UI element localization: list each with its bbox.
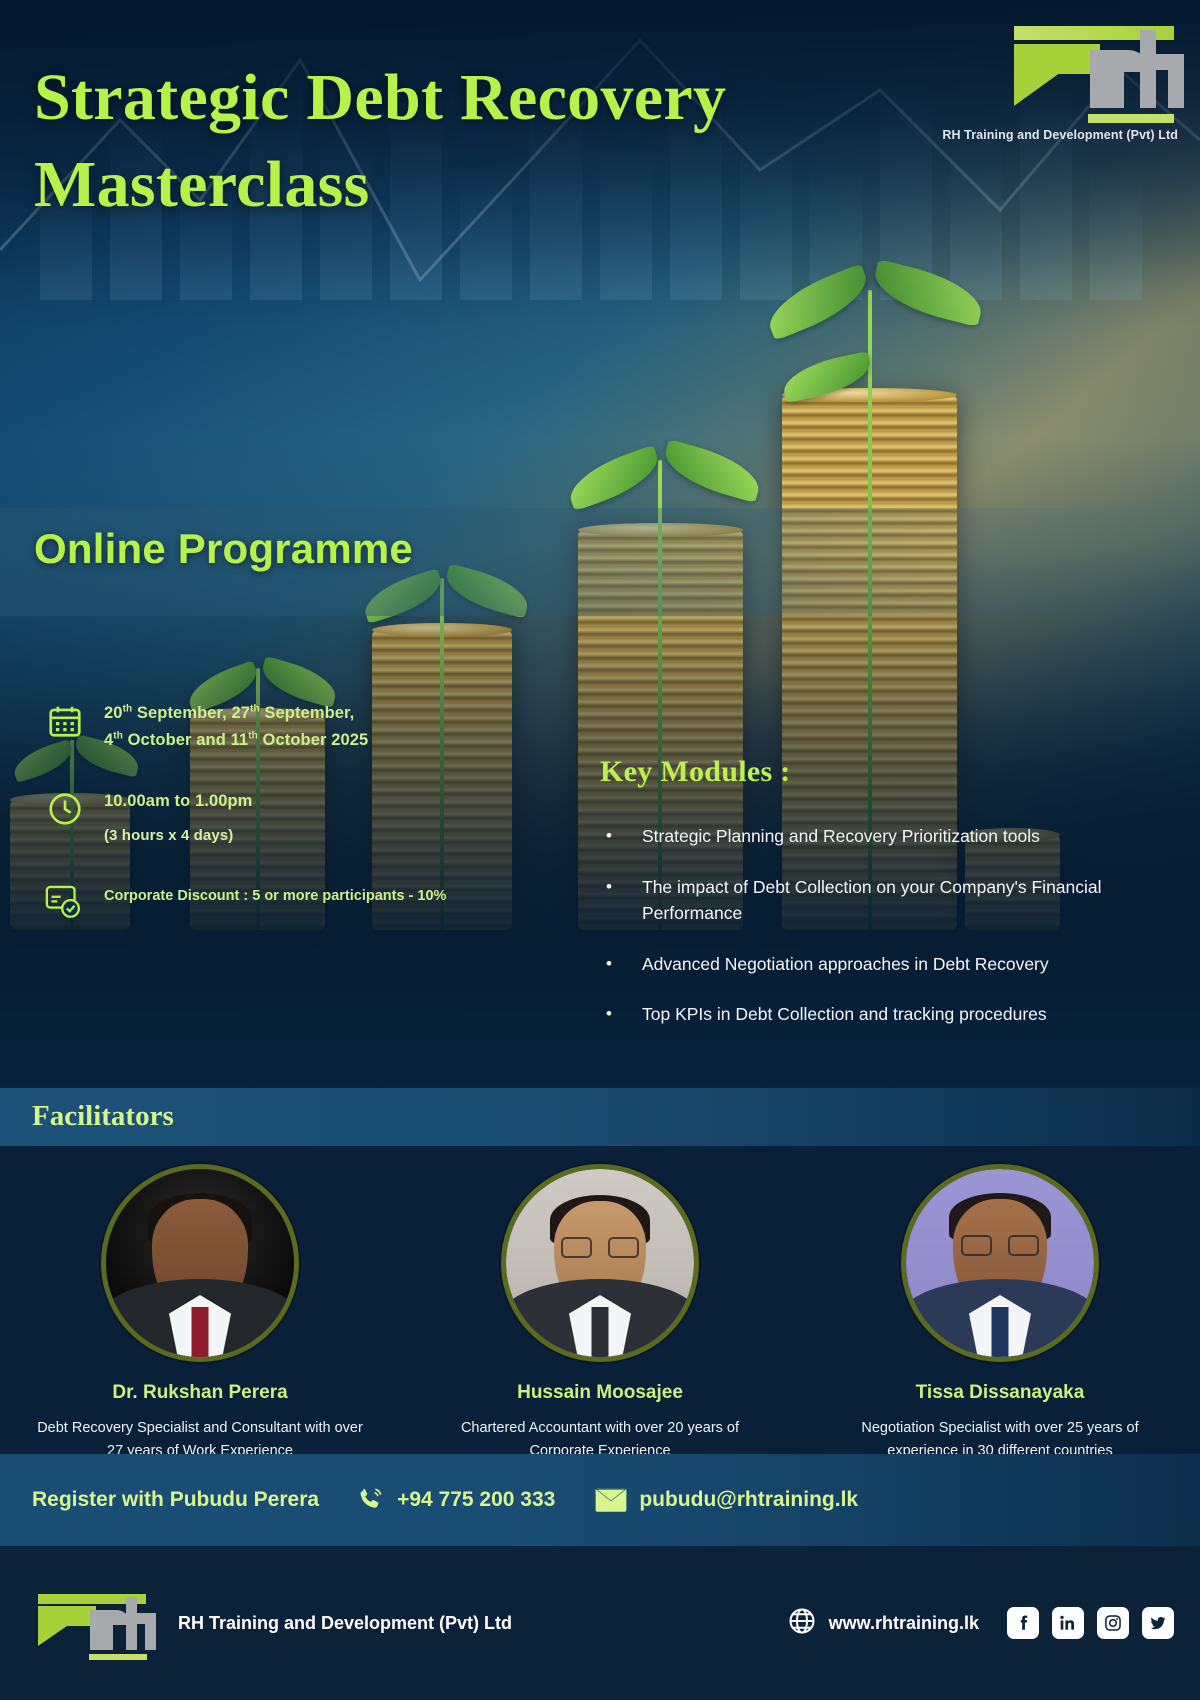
title-line-2: Masterclass: [34, 141, 894, 228]
online-programme-label: Online Programme: [34, 525, 413, 573]
facilitator-portrait: [106, 1169, 294, 1357]
date-2-label: September, 27: [132, 704, 250, 722]
bullet-glyph: •: [606, 874, 612, 900]
facilitators-band: Facilitators: [0, 1088, 1200, 1146]
date-4-label: October and 11: [123, 731, 248, 749]
avatar: [101, 1164, 299, 1362]
phone-icon: [355, 1485, 385, 1515]
phone-number: +94 775 200 333: [397, 1488, 555, 1512]
date-3-day: 4: [104, 731, 113, 749]
facilitator-portrait: [906, 1169, 1094, 1357]
twitter-icon[interactable]: [1142, 1607, 1174, 1639]
facilitator-name: Hussain Moosajee: [400, 1382, 800, 1404]
rh-logo-mark: [992, 22, 1174, 114]
title-line-1: Strategic Debt Recovery: [34, 54, 894, 141]
registration-bar: Register with Pubudu Perera +94 775 200 …: [0, 1454, 1200, 1546]
clock-icon: [40, 788, 90, 832]
avatar: [501, 1164, 699, 1362]
globe-icon: [787, 1606, 817, 1641]
date-4-month-year: October 2025: [258, 731, 368, 749]
discount-text: Corporate Discount : 5 or more participa…: [104, 882, 446, 904]
facilitator-card: Tissa Dissanayaka Negotiation Specialist…: [800, 1164, 1200, 1464]
eyeglasses-icon: [561, 1237, 639, 1258]
email-link[interactable]: pubudu@rhtraining.lk: [595, 1487, 858, 1513]
logo-caption: RH Training and Development (Pvt) Ltd: [918, 128, 1178, 142]
event-details: 20th September, 27th September, 4th Octo…: [40, 700, 560, 960]
facilitator-portrait: [506, 1169, 694, 1357]
key-modules-list: •Strategic Planning and Recovery Priorit…: [600, 823, 1160, 1028]
date-3-ord: th: [113, 731, 123, 742]
facilitator-card: Dr. Rukshan Perera Debt Recovery Special…: [0, 1164, 400, 1464]
module-item: •The impact of Debt Collection on your C…: [600, 874, 1160, 927]
facilitators-heading: Facilitators: [32, 1100, 174, 1133]
brand-logo-header: RH Training and Development (Pvt) Ltd: [992, 22, 1182, 114]
bullet-glyph: •: [606, 823, 612, 849]
flyer-poster: Strategic Debt Recovery Masterclass RH T…: [0, 0, 1200, 1700]
register-label: Register with Pubudu Perera: [32, 1488, 319, 1512]
module-item-text: Strategic Planning and Recovery Prioriti…: [642, 826, 1040, 846]
date-2-month: September,: [260, 704, 355, 722]
key-modules-heading: Key Modules :: [600, 755, 1160, 789]
bullet-glyph: •: [606, 951, 612, 977]
date-1-day: 20: [104, 704, 123, 722]
time-main: 10.00am to 1.00pm: [104, 792, 252, 810]
detail-row-dates: 20th September, 27th September, 4th Octo…: [40, 700, 560, 754]
social-links: [1007, 1607, 1174, 1639]
footer: RH Training and Development (Pvt) Ltd ww…: [0, 1546, 1200, 1700]
detail-row-time: 10.00am to 1.00pm (3 hours x 4 days): [40, 788, 560, 848]
module-item-text: The impact of Debt Collection on your Co…: [642, 877, 1102, 924]
dates-text: 20th September, 27th September, 4th Octo…: [104, 700, 368, 754]
facebook-icon[interactable]: [1007, 1607, 1039, 1639]
time-sub: (3 hours x 4 days): [104, 824, 252, 849]
bullet-glyph: •: [606, 1001, 612, 1027]
phone-link[interactable]: +94 775 200 333: [355, 1485, 555, 1515]
rh-logo-footer: [26, 1592, 156, 1654]
linkedin-icon[interactable]: [1052, 1607, 1084, 1639]
module-item: •Strategic Planning and Recovery Priorit…: [600, 823, 1160, 850]
module-item: •Top KPIs in Debt Collection and trackin…: [600, 1001, 1160, 1028]
date-1-ord: th: [123, 704, 133, 715]
card-check-icon: [40, 882, 90, 926]
footer-company-name: RH Training and Development (Pvt) Ltd: [178, 1613, 512, 1634]
time-text: 10.00am to 1.00pm (3 hours x 4 days): [104, 788, 252, 848]
module-item: •Advanced Negotiation approaches in Debt…: [600, 951, 1160, 978]
eyeglasses-icon: [961, 1235, 1039, 1256]
email-address: pubudu@rhtraining.lk: [639, 1488, 858, 1512]
facilitators-section: Dr. Rukshan Perera Debt Recovery Special…: [0, 1146, 1200, 1454]
key-modules-section: Key Modules : •Strategic Planning and Re…: [600, 755, 1160, 1052]
facilitator-name: Tissa Dissanayaka: [800, 1382, 1200, 1404]
detail-row-discount: Corporate Discount : 5 or more participa…: [40, 882, 560, 926]
facilitator-name: Dr. Rukshan Perera: [0, 1382, 400, 1404]
module-item-text: Advanced Negotiation approaches in Debt …: [642, 954, 1049, 974]
module-item-text: Top KPIs in Debt Collection and tracking…: [642, 1004, 1047, 1024]
dates-line-2: 4th October and 11th October 2025: [104, 727, 368, 754]
calendar-icon: [40, 700, 90, 744]
date-2-ord: th: [250, 704, 260, 715]
envelope-icon: [595, 1487, 627, 1513]
avatar: [901, 1164, 1099, 1362]
dates-line-1: 20th September, 27th September,: [104, 700, 368, 727]
footer-right: www.rhtraining.lk: [787, 1606, 1200, 1641]
page-title: Strategic Debt Recovery Masterclass: [34, 54, 894, 228]
instagram-icon[interactable]: [1097, 1607, 1129, 1639]
date-4-ord: th: [248, 731, 258, 742]
website-link[interactable]: www.rhtraining.lk: [829, 1613, 979, 1634]
facilitator-card: Hussain Moosajee Chartered Accountant wi…: [400, 1164, 800, 1464]
